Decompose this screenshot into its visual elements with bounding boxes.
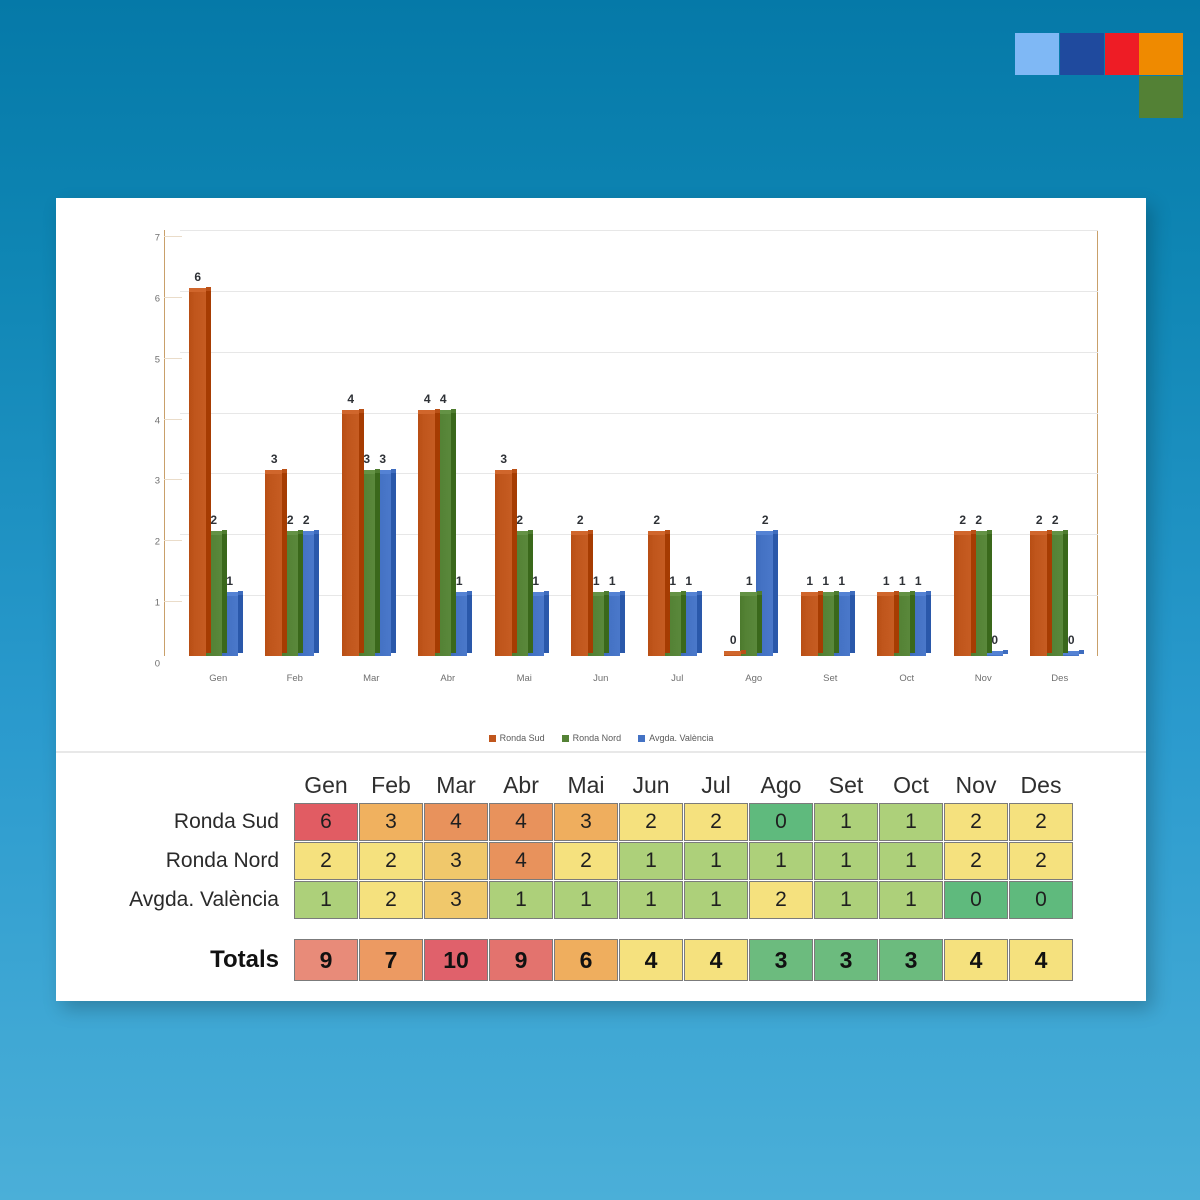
bar-top-side <box>282 469 287 473</box>
bar-top-side <box>435 409 440 413</box>
axis-side-tick <box>164 297 182 298</box>
bar-top <box>740 592 757 596</box>
bar-side <box>818 592 823 653</box>
axis-side-tick <box>164 601 182 602</box>
bar-value-label: 2 <box>642 513 672 527</box>
table-column-header: Oct <box>879 768 943 802</box>
table-totals-cell: 9 <box>489 939 553 981</box>
table-column-header: Jul <box>684 768 748 802</box>
table-cell: 1 <box>554 881 618 919</box>
table-spacer-cell <box>75 920 1073 938</box>
bar-top <box>756 531 773 535</box>
bar-top-side <box>910 591 915 595</box>
bar-top-side <box>834 591 839 595</box>
table-column-header: Nov <box>944 768 1008 802</box>
bar-group: 322 <box>265 230 324 656</box>
bar-value-label: 2 <box>750 513 780 527</box>
table-column-header: Feb <box>359 768 423 802</box>
bar-top-side <box>818 591 823 595</box>
table-cell: 1 <box>294 881 358 919</box>
bar-top-side <box>512 469 517 473</box>
table-totals-cell: 10 <box>424 939 488 981</box>
bar-group: 220 <box>954 230 1013 656</box>
bar-top-side <box>1047 530 1052 534</box>
table-row-label: Ronda Sud <box>75 803 293 841</box>
x-axis-tick-label: Gen <box>209 673 227 684</box>
table-totals-cell: 4 <box>684 939 748 981</box>
bar-top-side <box>467 591 472 595</box>
bar-side <box>391 470 396 653</box>
chart-plot-area: 01234567 6213224334413212112110121111112… <box>138 230 1098 700</box>
bar: 1 <box>877 595 894 656</box>
table-cell: 1 <box>814 881 878 919</box>
bar-value-label: 1 <box>871 574 901 588</box>
bar-top-side <box>604 591 609 595</box>
bar-top-side <box>971 530 976 534</box>
table-totals-row: Totals9710964433344 <box>75 939 1073 981</box>
bar-value-label: 6 <box>183 270 213 284</box>
bar-side <box>665 531 670 653</box>
legend-swatch-icon <box>489 735 496 742</box>
bar: 6 <box>189 291 206 656</box>
x-axis-tick-label: Jul <box>671 673 683 684</box>
bar-side <box>238 592 243 653</box>
bar: 2 <box>648 534 665 656</box>
square-dark-blue-icon <box>1060 33 1104 75</box>
bar-side <box>604 592 609 653</box>
table-cell: 1 <box>684 881 748 919</box>
square-green-icon <box>1139 76 1183 118</box>
bar-value-label: 3 <box>489 452 519 466</box>
bar-side <box>467 592 472 653</box>
table-totals-cell: 4 <box>1009 939 1073 981</box>
square-light-blue-icon <box>1015 33 1059 75</box>
bar-side <box>620 592 625 653</box>
bar-group: 012 <box>724 230 783 656</box>
x-axis-tick-label: Ago <box>745 673 762 684</box>
table-cell: 4 <box>489 842 553 880</box>
bar-top <box>265 470 282 474</box>
data-table-panel: GenFebMarAbrMaiJunJulAgoSetOctNovDes Ron… <box>56 753 1146 982</box>
table-corner-cell <box>75 768 293 802</box>
bar-face <box>571 534 588 656</box>
bar-value-label: 1 <box>795 574 825 588</box>
bar-value-label: 3 <box>259 452 289 466</box>
bar-group: 211 <box>571 230 630 656</box>
bar-top <box>877 592 894 596</box>
table-totals-cell: 7 <box>359 939 423 981</box>
x-axis-tick-label: Feb <box>287 673 303 684</box>
table-column-header: Set <box>814 768 878 802</box>
table-cell: 1 <box>619 881 683 919</box>
table-cell: 4 <box>489 803 553 841</box>
table-row-label: Ronda Nord <box>75 842 293 880</box>
bar-top <box>801 592 818 596</box>
bar-face <box>801 595 818 656</box>
bar-side <box>528 531 533 653</box>
bar-group: 321 <box>495 230 554 656</box>
axis-side-tick <box>164 236 182 237</box>
bar-top-side <box>987 530 992 534</box>
y-axis-tick-label: 6 <box>134 293 160 304</box>
legend-item[interactable]: Ronda Nord <box>562 733 622 743</box>
bar-top <box>571 531 588 535</box>
table-cell: 1 <box>489 881 553 919</box>
bar-side <box>314 531 319 653</box>
bar-side <box>910 592 915 653</box>
bar-side <box>971 531 976 653</box>
bar-top-side <box>697 591 702 595</box>
bar-top-side <box>1079 650 1084 654</box>
bar-side <box>894 592 899 653</box>
table-row: Ronda Nord223421111122 <box>75 842 1073 880</box>
bar-top-side <box>741 650 746 654</box>
table-row: Ronda Sud634432201122 <box>75 803 1073 841</box>
bar-face <box>418 413 435 656</box>
table-spacer-row <box>75 920 1073 938</box>
table-cell: 3 <box>424 881 488 919</box>
bar-group: 621 <box>189 230 248 656</box>
chart-panel: Variació sinistres ubicacions control ve… <box>56 198 1146 753</box>
table-totals-cell: 4 <box>944 939 1008 981</box>
table-column-header: Mai <box>554 768 618 802</box>
table-column-header: Mar <box>424 768 488 802</box>
bar-top-side <box>773 530 778 534</box>
table-totals-label: Totals <box>75 939 293 981</box>
y-axis-tick-label: 4 <box>134 415 160 426</box>
bar-side <box>1063 531 1068 653</box>
bar-top <box>189 288 206 292</box>
bar-top-side <box>238 591 243 595</box>
table-cell: 1 <box>879 803 943 841</box>
bar-top-side <box>926 591 931 595</box>
bar-side <box>544 592 549 653</box>
bar-top-side <box>222 530 227 534</box>
bar-top-side <box>894 591 899 595</box>
bar-side <box>298 531 303 653</box>
bar-group: 433 <box>342 230 401 656</box>
x-axis-tick-label: Mai <box>517 673 532 684</box>
bar-value-label: 2 <box>948 513 978 527</box>
bar-face <box>495 473 512 656</box>
bar-top-side <box>298 530 303 534</box>
bar-value-label: 4 <box>412 392 442 406</box>
legend-item[interactable]: Ronda Sud <box>489 733 545 743</box>
bar-top-side <box>620 591 625 595</box>
axis-side-tick <box>164 419 182 420</box>
x-axis-tick-label: Jun <box>593 673 608 684</box>
square-orange-icon <box>1139 33 1183 75</box>
table-column-header: Ago <box>749 768 813 802</box>
bar-value-label: 4 <box>336 392 366 406</box>
x-axis-tick-label: Des <box>1051 673 1068 684</box>
bar-top-side <box>391 469 396 473</box>
table-row: Avgda. València123111121100 <box>75 881 1073 919</box>
bar-group: 111 <box>877 230 936 656</box>
bar-side <box>588 531 593 653</box>
y-axis-tick-label: 2 <box>134 537 160 548</box>
bar-side <box>987 531 992 653</box>
slide-card: Variació sinistres ubicacions control ve… <box>56 198 1146 1001</box>
bar-value-label: 1 <box>734 574 764 588</box>
x-axis-tick-label: Mar <box>363 673 379 684</box>
bar-value-label: 0 <box>718 633 748 647</box>
chart-legend: Ronda SudRonda NordAvgda. València <box>56 733 1146 743</box>
bar-top-side <box>1003 650 1008 654</box>
bar: 0 <box>986 654 1003 656</box>
x-axis-tick-label: Abr <box>440 673 455 684</box>
bar-top-side <box>850 591 855 595</box>
bar-group: 111 <box>801 230 860 656</box>
bar-side <box>282 470 287 653</box>
table-cell: 2 <box>944 842 1008 880</box>
y-axis-tick-label: 3 <box>134 476 160 487</box>
table-cell: 3 <box>359 803 423 841</box>
table-cell: 2 <box>1009 842 1073 880</box>
table-cell: 0 <box>944 881 1008 919</box>
bar: 3 <box>265 473 282 656</box>
bar: 0 <box>1062 654 1079 656</box>
bar-group: 441 <box>418 230 477 656</box>
table-cell: 0 <box>749 803 813 841</box>
table-totals-cell: 3 <box>749 939 813 981</box>
bar: 4 <box>418 413 435 656</box>
bar-top-side <box>375 469 380 473</box>
table-cell: 2 <box>619 803 683 841</box>
axis-side-tick <box>164 479 182 480</box>
bar-top <box>648 531 665 535</box>
bar-side <box>451 410 456 653</box>
table-cell: 1 <box>814 842 878 880</box>
bar-top-side <box>451 409 456 413</box>
bar: 0 <box>724 654 741 656</box>
bar-face <box>342 413 359 656</box>
table-cell: 1 <box>749 842 813 880</box>
x-axis-tick-label: Set <box>823 673 837 684</box>
bar: 3 <box>495 473 512 656</box>
bar-face <box>189 291 206 656</box>
bar-face <box>265 473 282 656</box>
table-cell: 3 <box>554 803 618 841</box>
table-cell: 6 <box>294 803 358 841</box>
table-cell: 3 <box>424 842 488 880</box>
table-totals-cell: 3 <box>879 939 943 981</box>
bar-group: 211 <box>648 230 707 656</box>
table-column-header: Des <box>1009 768 1073 802</box>
table-cell: 2 <box>294 842 358 880</box>
legend-swatch-icon <box>638 735 645 742</box>
bar-face <box>1030 534 1047 656</box>
y-axis-tick-label: 1 <box>134 598 160 609</box>
bar-side <box>697 592 702 653</box>
table-body: Ronda Sud634432201122Ronda Nord223421111… <box>75 803 1073 981</box>
table-cell: 2 <box>944 803 1008 841</box>
bar-top-side <box>757 591 762 595</box>
table-cell: 1 <box>684 842 748 880</box>
bar-top-side <box>588 530 593 534</box>
table-header-row: GenFebMarAbrMaiJunJulAgoSetOctNovDes <box>75 768 1073 802</box>
bar: 2 <box>954 534 971 656</box>
bar: 2 <box>571 534 588 656</box>
bar-side <box>926 592 931 653</box>
table-cell: 4 <box>424 803 488 841</box>
bar-top <box>342 410 359 414</box>
bar: 1 <box>801 595 818 656</box>
bar-top-side <box>1063 530 1068 534</box>
legend-swatch-icon <box>562 735 569 742</box>
bar-top <box>1030 531 1047 535</box>
bar-face <box>648 534 665 656</box>
bar-top <box>724 651 741 655</box>
bar-face <box>954 534 971 656</box>
bar-side <box>773 531 778 653</box>
bar-value-label: 2 <box>1024 513 1054 527</box>
table-cell: 0 <box>1009 881 1073 919</box>
y-axis-tick-label: 5 <box>134 354 160 365</box>
bar-side <box>512 470 517 653</box>
bar-side <box>681 592 686 653</box>
bar-top-side <box>359 409 364 413</box>
bar-side <box>834 592 839 653</box>
bar-top <box>954 531 971 535</box>
axis-side-tick <box>164 540 182 541</box>
bar-side <box>1047 531 1052 653</box>
table-cell: 1 <box>814 803 878 841</box>
bar: 2 <box>1030 534 1047 656</box>
data-table: GenFebMarAbrMaiJunJulAgoSetOctNovDes Ron… <box>74 767 1074 982</box>
legend-label: Avgda. València <box>649 733 713 743</box>
bar-side <box>206 288 211 653</box>
table-cell: 2 <box>749 881 813 919</box>
bar-side <box>359 410 364 653</box>
table-cell: 1 <box>879 842 943 880</box>
x-axis-tick-label: Oct <box>899 673 914 684</box>
bar-group: 220 <box>1030 230 1089 656</box>
table-totals-cell: 4 <box>619 939 683 981</box>
table-cell: 2 <box>359 881 423 919</box>
bar-face <box>877 595 894 656</box>
table-cell: 2 <box>554 842 618 880</box>
table-column-header: Gen <box>294 768 358 802</box>
bar-side <box>435 410 440 653</box>
bar: 4 <box>342 413 359 656</box>
table-row-label: Avgda. València <box>75 881 293 919</box>
legend-label: Ronda Nord <box>573 733 622 743</box>
table-totals-cell: 3 <box>814 939 878 981</box>
bar-value-label: 2 <box>565 513 595 527</box>
bar-top <box>495 470 512 474</box>
bar-top-side <box>681 591 686 595</box>
brand-squares-logo <box>1015 33 1163 118</box>
y-axis-tick-label: 7 <box>134 233 160 244</box>
axis-side-tick <box>164 358 182 359</box>
bar-top-side <box>665 530 670 534</box>
table-totals-cell: 9 <box>294 939 358 981</box>
table-cell: 2 <box>684 803 748 841</box>
bar-side <box>222 531 227 653</box>
legend-label: Ronda Sud <box>500 733 545 743</box>
bar-top-side <box>206 287 211 291</box>
bar-top-side <box>544 591 549 595</box>
bar-side <box>757 592 762 653</box>
bar-side <box>375 470 380 653</box>
bar-top-side <box>314 530 319 534</box>
table-cell: 1 <box>619 842 683 880</box>
table-cell: 2 <box>359 842 423 880</box>
table-totals-cell: 6 <box>554 939 618 981</box>
table-column-header: Abr <box>489 768 553 802</box>
y-axis-tick-label: 0 <box>134 659 160 670</box>
legend-item[interactable]: Avgda. València <box>638 733 713 743</box>
table-column-header: Jun <box>619 768 683 802</box>
table-cell: 2 <box>1009 803 1073 841</box>
table-cell: 1 <box>879 881 943 919</box>
bar-top <box>418 410 435 414</box>
bar-top-side <box>528 530 533 534</box>
x-axis-tick-label: Nov <box>975 673 992 684</box>
bar-side <box>850 592 855 653</box>
